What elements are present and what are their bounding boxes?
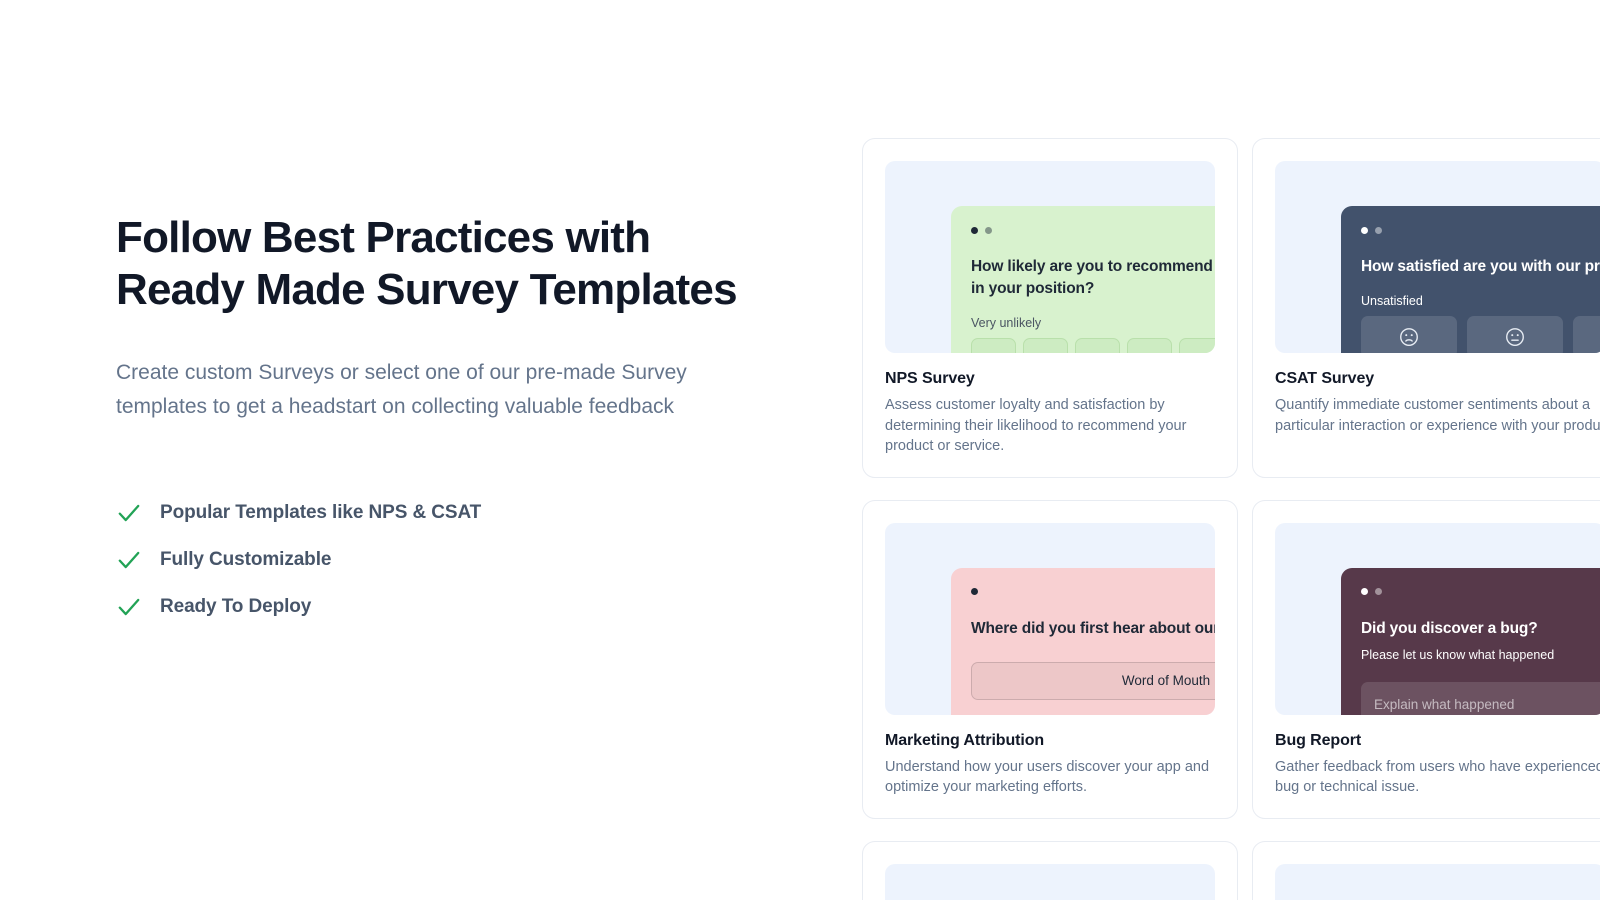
card-description: Quantify immediate customer sentiments a… <box>1275 395 1600 436</box>
progress-dot-active <box>971 227 978 234</box>
progress-dot-active <box>971 588 978 595</box>
survey-question: How satisfied are you with our product? <box>1361 256 1600 278</box>
csat-option-unsatisfied[interactable] <box>1361 316 1457 353</box>
card-description: Gather feedback from users who have expe… <box>1275 757 1600 798</box>
page-title: Follow Best Practices with Ready Made Su… <box>116 212 776 316</box>
check-icon <box>116 594 142 620</box>
list-item-label: Ready To Deploy <box>160 596 311 618</box>
nps-option-4[interactable]: 4 <box>1127 338 1172 353</box>
check-icon <box>116 547 142 573</box>
survey-panel: Where did you first hear about our app? … <box>951 568 1215 715</box>
feature-list: Popular Templates like NPS & CSAT Fully … <box>116 490 816 631</box>
nps-scale-row: 1 2 3 4 5 6 7 <box>971 338 1215 353</box>
template-preview: Where did you first hear about our app? … <box>885 523 1215 715</box>
scale-label-left: Very unlikely <box>971 316 1041 330</box>
progress-dot-active <box>1361 227 1368 234</box>
list-item: Ready To Deploy <box>116 584 816 631</box>
template-card-grid: How likely are you to recommend our some… <box>862 138 1600 900</box>
template-card-bug-report[interactable]: Did you discover a bug? Please let us kn… <box>1252 500 1600 819</box>
list-item-label: Popular Templates like NPS & CSAT <box>160 502 481 524</box>
survey-panel: How satisfied are you with our product? … <box>1341 206 1600 353</box>
check-icon <box>116 500 142 526</box>
survey-panel: Did you discover a bug? Please let us kn… <box>1341 568 1600 715</box>
template-card-nps[interactable]: How likely are you to recommend our some… <box>862 138 1238 478</box>
survey-question: How likely are you to recommend our some… <box>971 256 1215 300</box>
survey-question-subtitle: Please let us know what happened <box>1361 648 1600 662</box>
nps-option-3[interactable]: 3 <box>1075 338 1120 353</box>
survey-question: Did you discover a bug? <box>1361 618 1600 640</box>
template-card-csat[interactable]: How satisfied are you with our product? … <box>1252 138 1600 478</box>
scale-label-left: Unsatisfied <box>1361 294 1423 308</box>
csat-option-satisfied[interactable] <box>1573 316 1600 353</box>
templates-landing-page: Follow Best Practices with Ready Made Su… <box>0 0 1600 900</box>
card-title: Marketing Attribution <box>885 732 1215 750</box>
bug-description-input[interactable]: Explain what happened <box>1361 682 1600 715</box>
template-preview <box>1275 864 1600 900</box>
survey-panel: How likely are you to recommend our some… <box>951 206 1215 353</box>
card-description: Understand how your users discover your … <box>885 757 1215 798</box>
csat-face-row <box>1361 316 1600 353</box>
csat-option-neutral[interactable] <box>1467 316 1563 353</box>
template-card-marketing-attribution[interactable]: Where did you first hear about our app? … <box>862 500 1238 819</box>
nps-option-5[interactable]: 5 <box>1179 338 1215 353</box>
panel-header <box>971 222 1215 238</box>
scale-labels: Unsatisfied Satisfied <box>1361 294 1600 308</box>
template-preview: How likely are you to recommend our some… <box>885 161 1215 353</box>
scale-labels: Very unlikely <box>971 316 1215 330</box>
panel-header <box>1361 222 1600 238</box>
frowning-face-icon <box>1398 326 1420 348</box>
choice-option-word-of-mouth[interactable]: Word of Mouth <box>971 662 1215 700</box>
progress-dot-active <box>1361 588 1368 595</box>
card-title: CSAT Survey <box>1275 370 1600 388</box>
panel-header <box>971 584 1215 600</box>
nps-option-1[interactable]: 1 <box>971 338 1016 353</box>
list-item-label: Fully Customizable <box>160 549 331 571</box>
card-title: Bug Report <box>1275 732 1600 750</box>
card-description: Assess customer loyalty and satisfaction… <box>885 395 1215 457</box>
card-title: NPS Survey <box>885 370 1215 388</box>
template-preview: Did you discover a bug? Please let us kn… <box>1275 523 1600 715</box>
progress-dot <box>985 227 992 234</box>
page-subtitle: Create custom Surveys or select one of o… <box>116 356 741 424</box>
template-card-teal[interactable] <box>1252 841 1600 900</box>
nps-option-2[interactable]: 2 <box>1023 338 1068 353</box>
template-preview: How satisfied are you with our product? … <box>1275 161 1600 353</box>
neutral-face-icon <box>1504 326 1526 348</box>
survey-question: Where did you first hear about our app? <box>971 618 1215 640</box>
template-card-purple[interactable] <box>862 841 1238 900</box>
hero-section: Follow Best Practices with Ready Made Su… <box>116 0 816 631</box>
list-item: Fully Customizable <box>116 537 816 584</box>
progress-dot <box>1375 588 1382 595</box>
template-preview <box>885 864 1215 900</box>
panel-header <box>1361 584 1600 600</box>
progress-dot <box>1375 227 1382 234</box>
list-item: Popular Templates like NPS & CSAT <box>116 490 816 537</box>
